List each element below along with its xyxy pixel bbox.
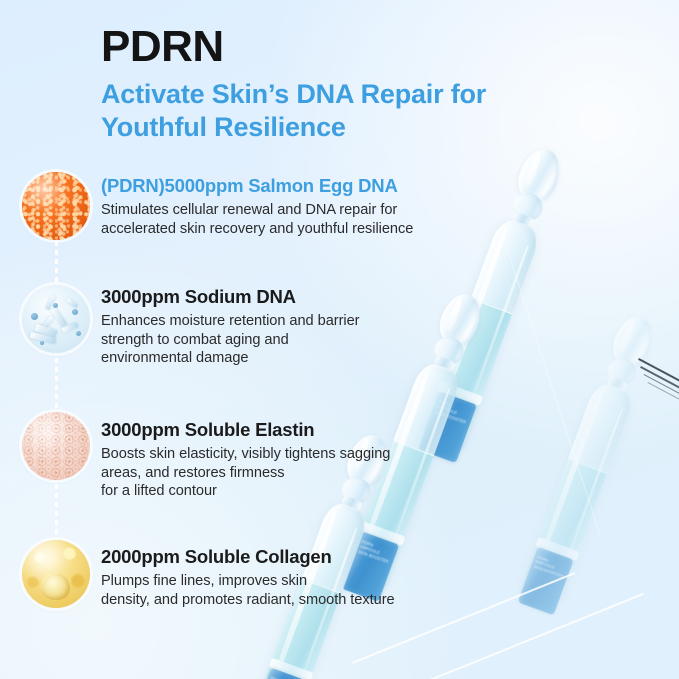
icon-highlight (22, 412, 90, 480)
dna-helix (22, 285, 90, 353)
skin-cells-icon (22, 412, 90, 480)
mineral-dot (53, 303, 58, 308)
content-layer: PDRN Activate Skin’s DNA Repair for Yout… (0, 0, 679, 679)
feature-heading: 3000ppm Soluble Elastin (101, 419, 501, 441)
feature-body: Enhances moisture retention and barrier … (101, 312, 501, 368)
mineral-dot (40, 341, 44, 345)
feature-heading: (PDRN)5000ppm Salmon Egg DNA (101, 175, 501, 197)
mineral-dot (76, 331, 81, 336)
dna-crystal-icon (22, 285, 90, 353)
icon-highlight (22, 540, 90, 608)
crystal-shard (66, 298, 78, 308)
mineral-dot (31, 313, 38, 320)
feature-body: Boosts skin elasticity, visibly tightens… (101, 445, 501, 501)
icon-highlight (22, 172, 90, 240)
page-subtitle: Activate Skin’s DNA Repair for Youthful … (101, 78, 571, 144)
page-title: PDRN (101, 25, 224, 69)
collagen-droplet-icon (22, 540, 90, 608)
feature-body: Plumps fine lines, improves skin density… (101, 572, 521, 609)
salmon-roe-icon (22, 172, 90, 240)
mineral-dot (72, 309, 78, 315)
feature-heading: 2000ppm Soluble Collagen (101, 546, 521, 568)
feature-heading: 3000ppm Sodium DNA (101, 286, 501, 308)
dotted-connector-line (55, 205, 58, 580)
feature-body: Stimulates cellular renewal and DNA repa… (101, 201, 501, 238)
